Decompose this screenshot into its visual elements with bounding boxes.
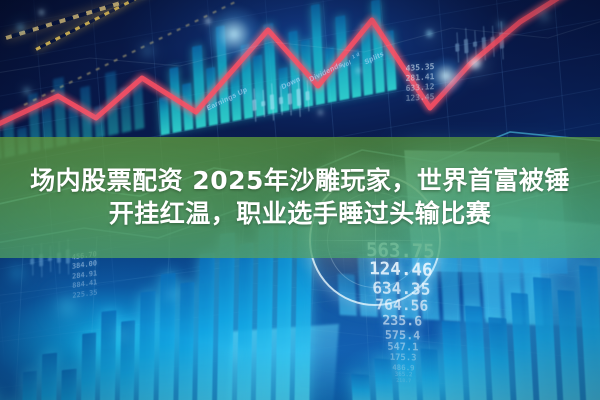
stock-market-banner-image: Earnings UpDownDividendsSplitsVol1 d 435… bbox=[0, 0, 600, 400]
headline-block: 场内股票配资 2025年沙雕玩家，世界首富被锤 开挂红温，职业选手睡过头输比赛 bbox=[0, 137, 600, 258]
headline-line-1: 场内股票配资 2025年沙雕玩家，世界首富被锤 bbox=[30, 167, 570, 195]
headline-line-2: 开挂红温，职业选手睡过头输比赛 bbox=[109, 200, 492, 228]
